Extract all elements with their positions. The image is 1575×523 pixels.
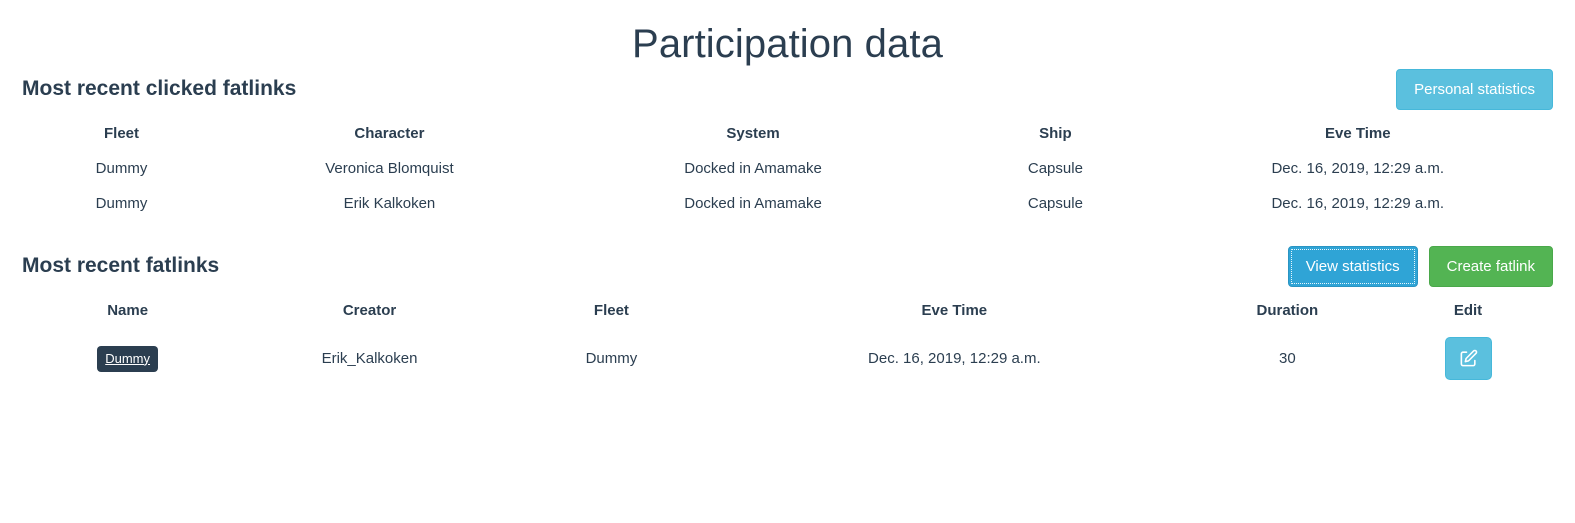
personal-statistics-button[interactable]: Personal statistics xyxy=(1396,69,1553,110)
edit-fatlink-button[interactable] xyxy=(1445,337,1492,380)
recent-fatlinks-table: Name Creator Fleet Eve Time Duration Edi… xyxy=(22,293,1553,389)
recent-clicked-fatlinks-table: Fleet Character System Ship Eve Time Dum… xyxy=(22,116,1553,221)
cell-creator: Erik_Kalkoken xyxy=(233,328,506,389)
cell-ship: Capsule xyxy=(948,186,1162,221)
cell-name: Dummy xyxy=(22,328,233,389)
view-statistics-button[interactable]: View statistics xyxy=(1288,246,1418,287)
create-fatlink-button[interactable]: Create fatlink xyxy=(1429,246,1553,287)
participation-data-page: Participation data Most recent clicked f… xyxy=(0,12,1575,523)
recent-fatlinks-actions: View statistics Create fatlink xyxy=(1288,246,1553,287)
recent-clicked-section-header: Most recent clicked fatlinks Personal st… xyxy=(22,66,1553,112)
cell-duration: 30 xyxy=(1192,328,1383,389)
cell-system: Docked in Amamake xyxy=(558,151,948,186)
edit-square-icon xyxy=(1459,349,1478,368)
column-header-ship: Ship xyxy=(948,116,1162,151)
table-body: Dummy Veronica Blomquist Docked in Amama… xyxy=(22,151,1553,221)
column-header-creator: Creator xyxy=(233,293,506,328)
column-header-system: System xyxy=(558,116,948,151)
cell-ship: Capsule xyxy=(948,151,1162,186)
table-body: Dummy Erik_Kalkoken Dummy Dec. 16, 2019,… xyxy=(22,328,1553,389)
recent-clicked-table-wrapper: Fleet Character System Ship Eve Time Dum… xyxy=(22,116,1553,221)
column-header-edit: Edit xyxy=(1383,293,1553,328)
column-header-eve-time: Eve Time xyxy=(1163,116,1553,151)
table-header-row: Fleet Character System Ship Eve Time xyxy=(22,116,1553,151)
column-header-name: Name xyxy=(22,293,233,328)
cell-system: Docked in Amamake xyxy=(558,186,948,221)
cell-character: Veronica Blomquist xyxy=(221,151,558,186)
column-header-character: Character xyxy=(221,116,558,151)
cell-edit xyxy=(1383,328,1553,389)
page-title: Participation data xyxy=(22,12,1553,66)
table-header-row: Name Creator Fleet Eve Time Duration Edi… xyxy=(22,293,1553,328)
column-header-fleet: Fleet xyxy=(22,116,221,151)
column-header-fleet: Fleet xyxy=(506,293,717,328)
cell-eve-time: Dec. 16, 2019, 12:29 a.m. xyxy=(1163,151,1553,186)
cell-eve-time: Dec. 16, 2019, 12:29 a.m. xyxy=(1163,186,1553,221)
recent-fatlinks-table-wrapper: Name Creator Fleet Eve Time Duration Edi… xyxy=(22,293,1553,389)
table-header: Name Creator Fleet Eve Time Duration Edi… xyxy=(22,293,1553,328)
recent-clicked-heading: Most recent clicked fatlinks xyxy=(22,76,296,101)
table-header: Fleet Character System Ship Eve Time xyxy=(22,116,1553,151)
cell-fleet: Dummy xyxy=(22,186,221,221)
recent-fatlinks-section-header: Most recent fatlinks View statistics Cre… xyxy=(22,243,1553,289)
cell-fleet: Dummy xyxy=(22,151,221,186)
table-row: Dummy Erik_Kalkoken Dummy Dec. 16, 2019,… xyxy=(22,328,1553,389)
column-header-eve-time: Eve Time xyxy=(717,293,1192,328)
table-row: Dummy Veronica Blomquist Docked in Amama… xyxy=(22,151,1553,186)
column-header-duration: Duration xyxy=(1192,293,1383,328)
recent-clicked-actions: Personal statistics xyxy=(1396,69,1553,110)
table-row: Dummy Erik Kalkoken Docked in Amamake Ca… xyxy=(22,186,1553,221)
recent-fatlinks-heading: Most recent fatlinks xyxy=(22,253,219,278)
cell-character: Erik Kalkoken xyxy=(221,186,558,221)
cell-eve-time: Dec. 16, 2019, 12:29 a.m. xyxy=(717,328,1192,389)
fatlink-name-label: Dummy xyxy=(105,351,150,366)
fatlink-name-badge[interactable]: Dummy xyxy=(97,346,158,372)
cell-fleet: Dummy xyxy=(506,328,717,389)
